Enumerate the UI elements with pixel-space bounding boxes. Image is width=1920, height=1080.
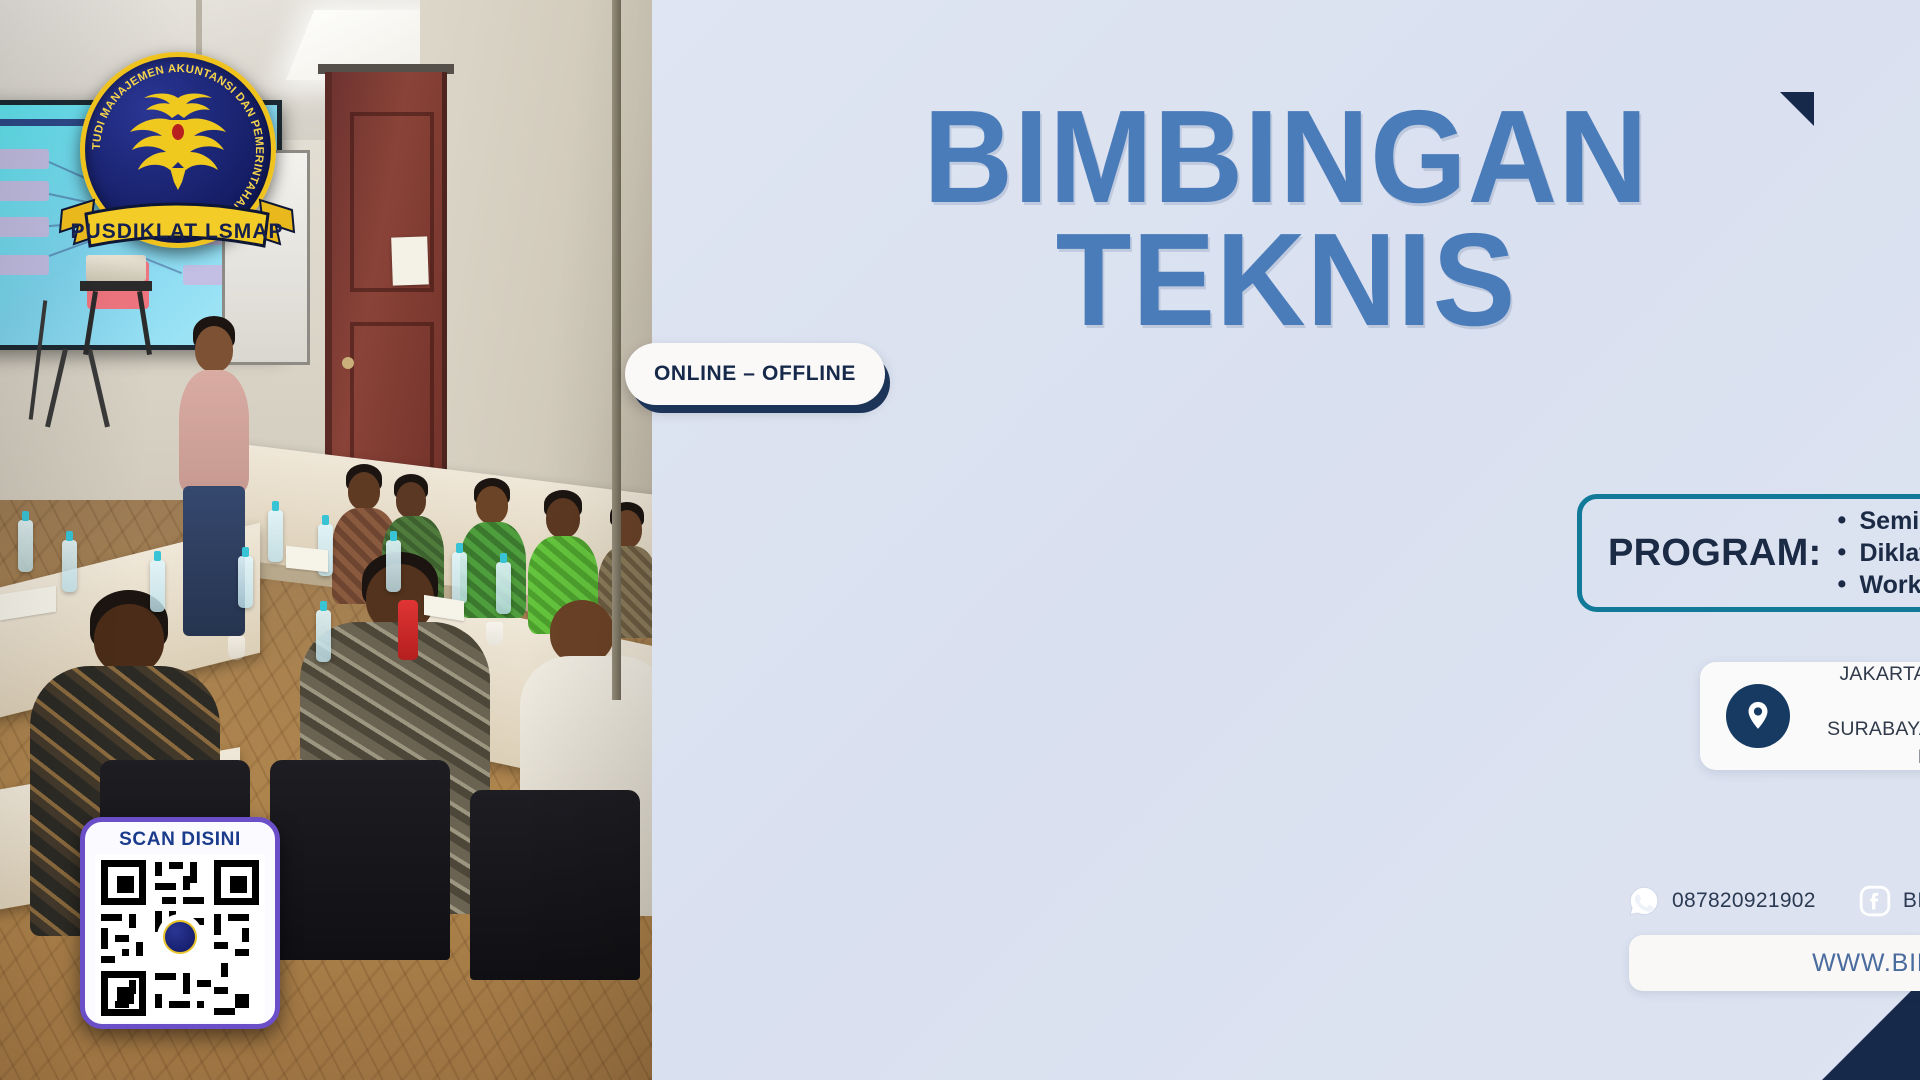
contact-whatsapp[interactable]: 087820921902 — [1627, 884, 1816, 918]
qr-title: SCAN DISINI — [93, 830, 267, 849]
locations-text: JAKARTA - BANDUNG - YOGYAKARTA - MALANG … — [1810, 661, 1920, 772]
whatsapp-number: 087820921902 — [1672, 889, 1816, 913]
qr-center-logo — [157, 914, 203, 960]
qr-finder-tr — [214, 860, 259, 905]
program-box: PROGRAM: Seminar Diklat Workshop Inhouse… — [1577, 494, 1920, 612]
corner-triangle-bottom-right — [1822, 982, 1920, 1080]
page-title: BIMBINGAN TEKNIS — [690, 96, 1882, 342]
locations-line-2: SURABAYA - LOMBOK -BALI - MAKASSAR — [1810, 716, 1920, 744]
locations-line-1: JAKARTA - BANDUNG - YOGYAKARTA - MALANG — [1810, 661, 1920, 716]
garuda-icon — [120, 90, 236, 198]
locations-card: JAKARTA - BANDUNG - YOGYAKARTA - MALANG … — [1700, 662, 1920, 770]
online-offline-badge: ONLINE – OFFLINE — [625, 343, 885, 405]
program-column-1: Seminar Diklat Workshop — [1838, 505, 1920, 601]
program-item: Seminar — [1838, 505, 1920, 537]
map-pin-icon — [1726, 684, 1790, 748]
facebook-icon — [1858, 884, 1892, 918]
program-label: PROGRAM: — [1608, 532, 1822, 575]
website-bar[interactable]: WWW.BIMTEKTRAINING.COM — [1629, 935, 1920, 991]
title-line-2: TEKNIS — [690, 219, 1882, 342]
facebook-name: BIMTEK TRAINING — [1903, 889, 1920, 913]
logo-ribbon: PUSDIKLAT LSMAP — [58, 192, 296, 264]
whatsapp-icon — [1627, 884, 1661, 918]
qr-scan-card[interactable]: SCAN DISINI — [80, 817, 280, 1029]
pusdiklat-lsmap-logo: LEMBAGA STUDI MANAJEMEN AKUNTANSI DAN PE… — [58, 52, 296, 264]
logo-ribbon-label: PUSDIKLAT LSMAP — [71, 220, 284, 243]
program-lists: Seminar Diklat Workshop Inhouse Training… — [1838, 505, 1920, 601]
qr-finder-bl — [101, 971, 146, 1016]
contact-facebook[interactable]: BIMTEK TRAINING — [1858, 884, 1920, 918]
program-item: Diklat — [1838, 537, 1920, 569]
contact-row: 087820921902 BIMTEK TRAINING BIMTEK TRAI… — [1627, 878, 1920, 924]
qr-finder-tl — [101, 860, 146, 905]
website-url: WWW.BIMTEKTRAINING.COM — [1812, 949, 1920, 978]
locations-line-3: BATAM - KALIMANTAN — [1810, 744, 1920, 772]
program-item: Workshop — [1838, 569, 1920, 601]
content-panel: BIMBINGAN TEKNIS PROGRAM: Seminar Diklat… — [652, 0, 1920, 1080]
qr-code-image — [95, 854, 265, 1022]
